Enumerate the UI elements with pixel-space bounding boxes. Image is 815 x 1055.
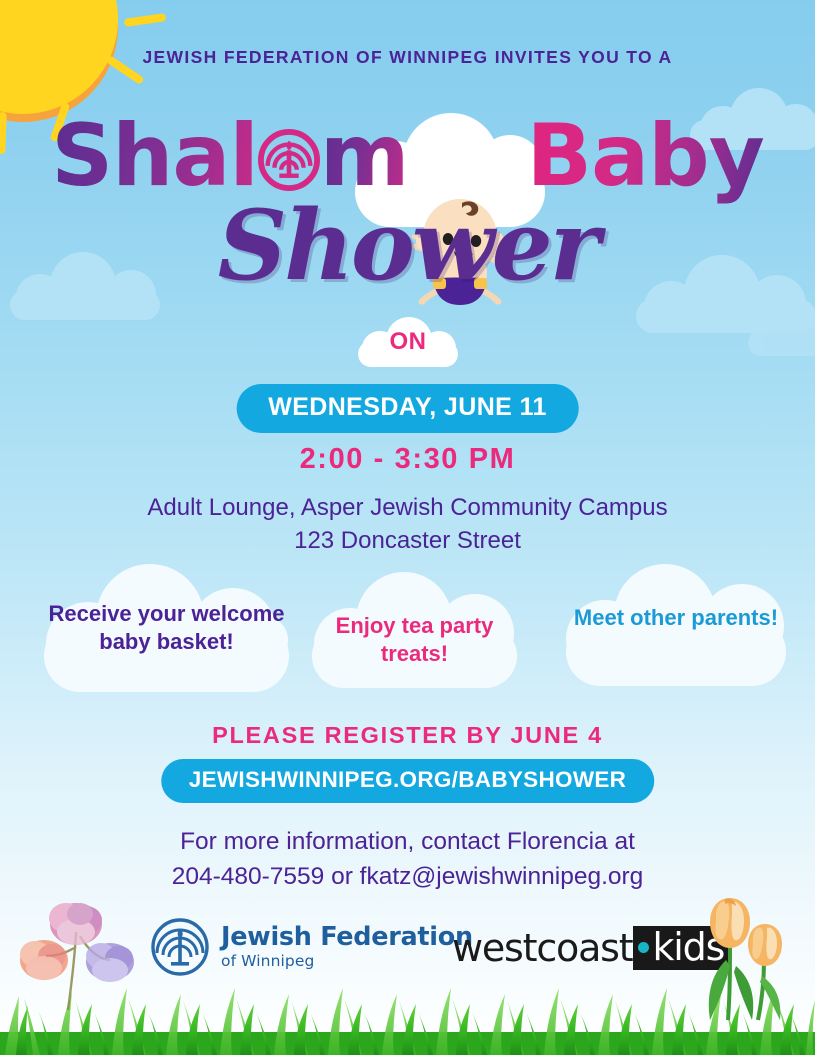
event-date-pill: WEDNESDAY, JUNE 11 [236,384,579,433]
feature-cloud-3: Meet other parents! [566,562,786,690]
venue-line-2: 123 Doncaster Street [0,525,815,558]
contact-info: For more information, contact Florencia … [0,825,815,895]
title-block: Shal mBaby [0,95,815,320]
watercolor-flowers-illustration [18,898,148,1013]
event-venue: Adult Lounge, Asper Jewish Community Cam… [0,492,815,557]
feature-cloud-2: Enjoy tea party treats! [312,572,517,694]
feature-text-1: Receive your welcome baby basket! [44,600,289,656]
feature-text-2: Enjoy tea party treats! [312,612,517,668]
title-shower: Shower [0,198,815,294]
poster-canvas: JEWISH FEDERATION OF WINNIPEG INVITES YO… [0,0,815,1055]
title-shalom-baby: Shal mBaby [0,113,815,199]
feature-cloud-1: Receive your welcome baby basket! [44,562,289,697]
register-title: PLEASE REGISTER BY JUNE 4 [0,722,815,749]
tulips-illustration [692,896,797,1021]
event-time: 2:00 - 3:30 PM [0,443,815,476]
on-label: ON [358,328,458,356]
venue-line-1: Adult Lounge, Asper Jewish Community Cam… [0,492,815,525]
kicker-text: JEWISH FEDERATION OF WINNIPEG INVITES YO… [0,47,815,68]
register-url-button[interactable]: JEWISHWINNIPEG.ORG/BABYSHOWER [161,759,654,803]
menorah-o-icon [258,119,320,181]
feature-text-3: Meet other parents! [566,604,786,632]
contact-line-1: For more information, contact Florencia … [0,825,815,860]
contact-line-2: 204-480-7559 or fkatz@jewishwinnipeg.org [0,860,815,895]
